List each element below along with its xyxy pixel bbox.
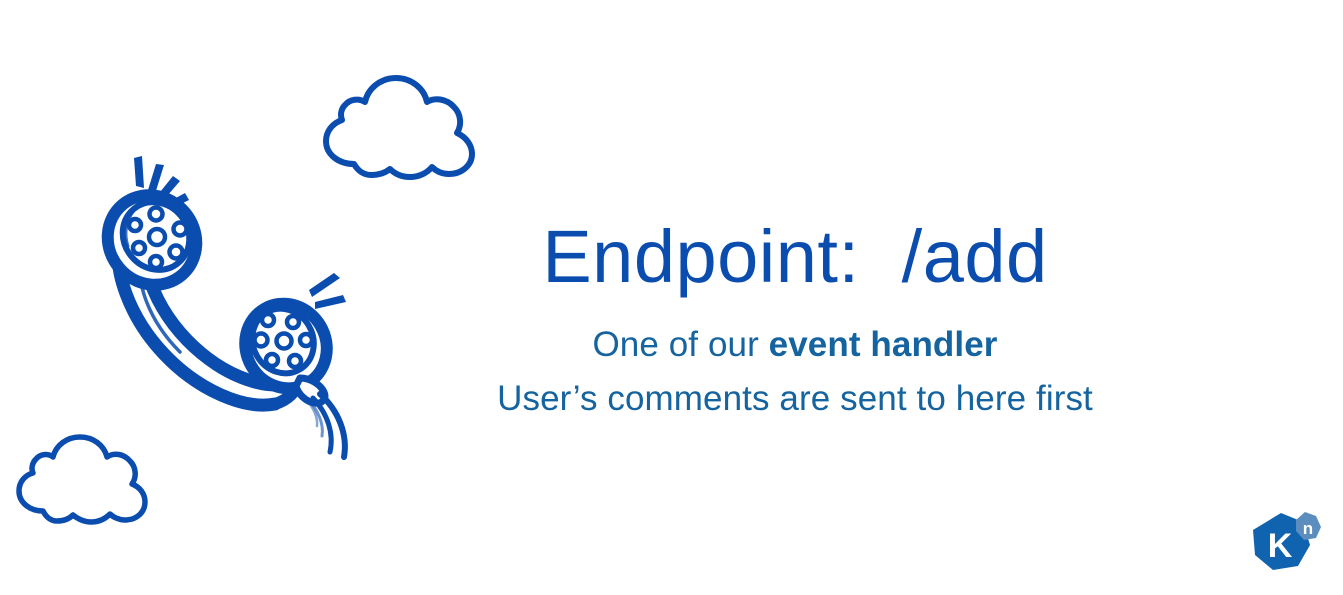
subtitle-line-2: User’s comments are sent to here first — [430, 372, 1160, 426]
cord-connector — [296, 378, 325, 403]
subtitle-line-1-emphasis: event handler — [769, 325, 998, 364]
page-title: Endpoint: /add — [430, 218, 1160, 296]
logo-letter-k: K — [1268, 527, 1293, 565]
telephone-handset-icon — [72, 142, 372, 462]
slide-canvas: Endpoint: /add One of our event handler … — [0, 0, 1343, 595]
subtitle-line-1: One of our event handler — [430, 318, 1160, 372]
earpiece — [89, 177, 214, 303]
subtitle-line-1-prefix: One of our — [592, 325, 768, 364]
brand-logo: K n — [1248, 509, 1322, 581]
slide-text-block: Endpoint: /add One of our event handler … — [430, 218, 1160, 426]
logo-letter-n: n — [1303, 519, 1313, 538]
sparkle-rays-mouthpiece — [309, 273, 346, 309]
